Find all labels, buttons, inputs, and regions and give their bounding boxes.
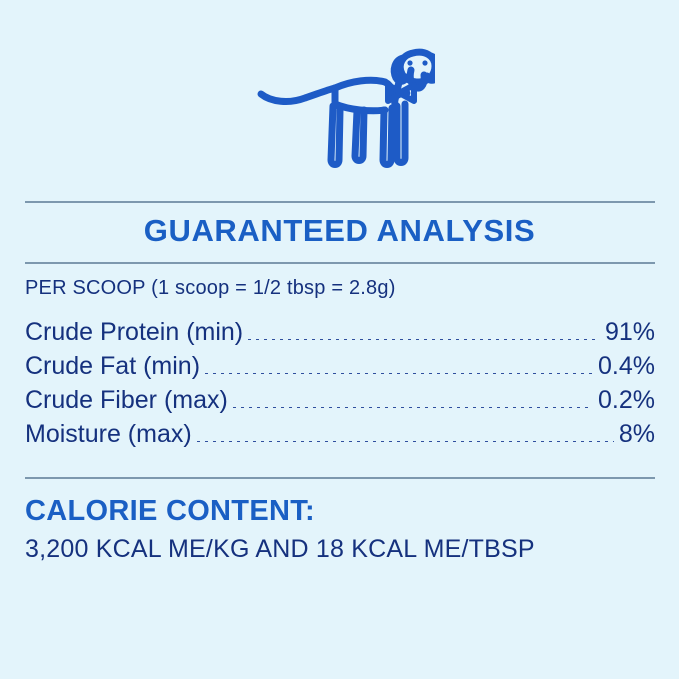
nutrient-value: 91% [605, 320, 655, 345]
nutrient-value: 8% [619, 422, 655, 447]
nutrient-label: Crude Protein (min) [25, 320, 243, 345]
nutrient-label: Crude Fiber (max) [25, 388, 228, 413]
divider-top [25, 201, 655, 203]
guaranteed-analysis-panel: GUARANTEED ANALYSIS PER SCOOP (1 scoop =… [0, 0, 679, 679]
divider-under-title [25, 262, 655, 264]
nutrient-label: Moisture (max) [25, 422, 192, 447]
dot-leader [197, 441, 614, 442]
table-row: Moisture (max) 8% [25, 422, 655, 447]
analysis-row-list: Crude Protein (min) 91% Crude Fat (min) … [25, 320, 655, 456]
serving-size-note: PER SCOOP (1 scoop = 1/2 tbsp = 2.8g) [25, 278, 396, 298]
table-row: Crude Protein (min) 91% [25, 320, 655, 345]
calorie-content-detail: 3,200 KCAL ME/KG AND 18 KCAL ME/TBSP [25, 537, 535, 562]
nutrient-value: 0.4% [598, 354, 655, 379]
guaranteed-analysis-title: GUARANTEED ANALYSIS [0, 215, 679, 246]
dot-leader [205, 373, 593, 374]
nutrient-value: 0.2% [598, 388, 655, 413]
dot-leader [233, 407, 593, 408]
dot-leader [248, 339, 600, 340]
dog-with-bowtie-icon [0, 44, 679, 192]
divider-above-calories [25, 477, 655, 479]
nutrient-label: Crude Fat (min) [25, 354, 200, 379]
table-row: Crude Fiber (max) 0.2% [25, 388, 655, 413]
table-row: Crude Fat (min) 0.4% [25, 354, 655, 379]
calorie-content-title: CALORIE CONTENT: [25, 497, 315, 526]
